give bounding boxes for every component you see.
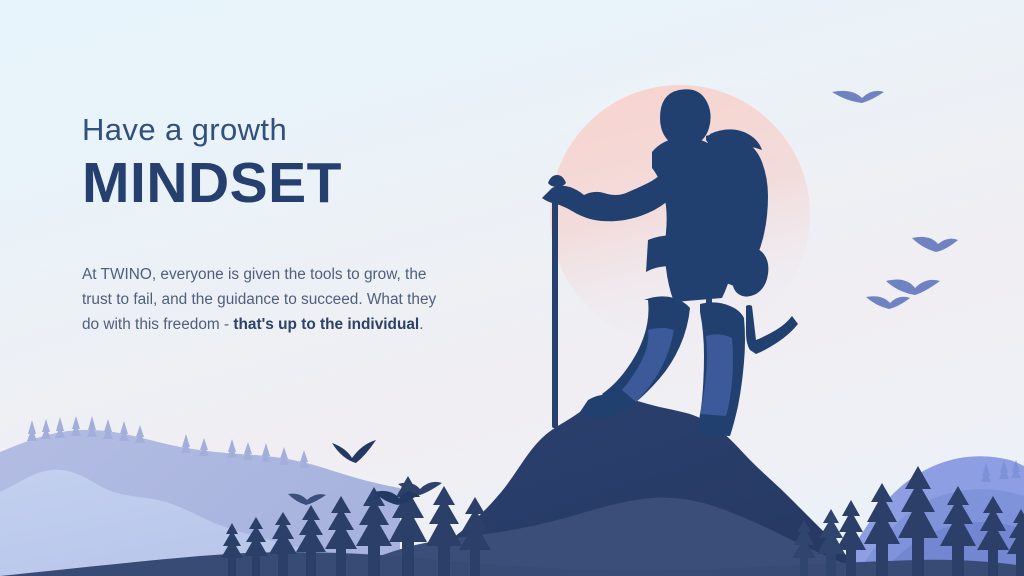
- body-paragraph: At TWINO, everyone is given the tools to…: [82, 263, 450, 338]
- headline-block: Have a growth MINDSET At TWINO, everyone…: [82, 112, 482, 338]
- trekking-pole-left: [552, 196, 558, 428]
- bird-right-mid: [886, 280, 940, 295]
- bird-right-lower: [866, 296, 910, 309]
- body-emphasis: that's up to the individual: [233, 316, 419, 333]
- bird-left-upper: [332, 440, 376, 463]
- eyebrow-text: Have a growth: [82, 112, 482, 148]
- page-title: MINDSET: [82, 154, 482, 214]
- bird-upper-right: [832, 91, 884, 103]
- bird-right-upper: [912, 237, 958, 252]
- slide-canvas: Have a growth MINDSET At TWINO, everyone…: [0, 0, 1024, 576]
- body-tail: .: [419, 316, 423, 333]
